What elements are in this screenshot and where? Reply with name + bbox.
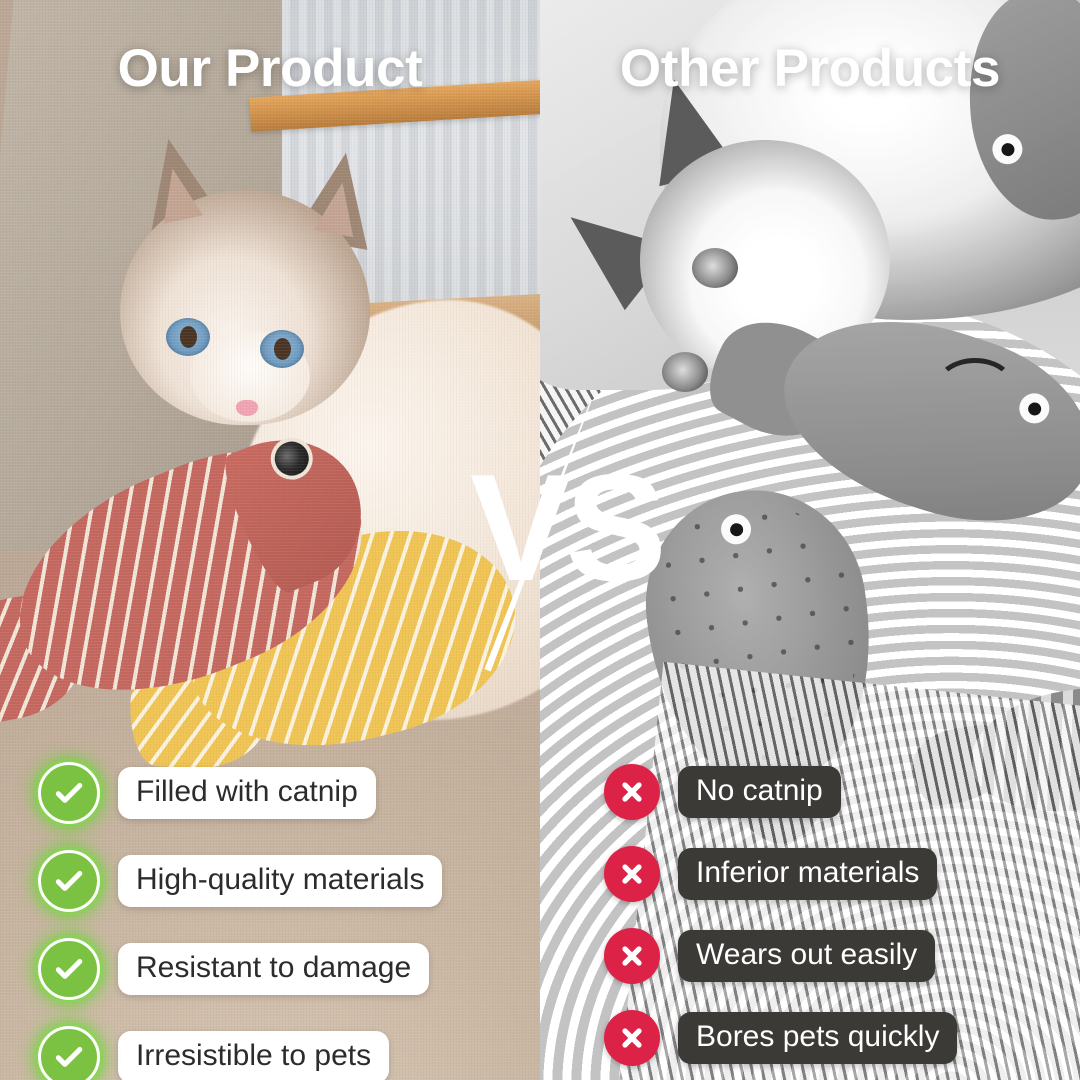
grey-cat-eye-upper	[692, 248, 738, 288]
list-item[interactable]: Resistant to damage	[38, 938, 442, 1000]
our-product-title: Our Product	[0, 38, 540, 99]
cross-icon	[604, 846, 660, 902]
pros-list: Filled with catnip High-quality material…	[38, 762, 442, 1080]
comparison-infographic: Our Product Other Products VS Filled wit…	[0, 0, 1080, 1080]
check-icon	[38, 1026, 100, 1080]
grey-cat-eye-lower	[662, 352, 708, 392]
con-label: Bores pets quickly	[678, 1012, 957, 1064]
cross-icon	[604, 928, 660, 984]
cross-icon	[604, 764, 660, 820]
grey-fish-smile	[935, 358, 1015, 416]
con-label: Inferior materials	[678, 848, 937, 900]
cons-list: No catnip Inferior materials Wears out e…	[604, 764, 957, 1066]
pro-label: High-quality materials	[118, 855, 442, 907]
list-item[interactable]: Irresistible to pets	[38, 1026, 442, 1080]
check-icon	[38, 762, 100, 824]
other-products-title: Other Products	[540, 38, 1080, 99]
list-item[interactable]: Inferior materials	[604, 846, 957, 902]
con-label: No catnip	[678, 766, 841, 818]
check-icon	[38, 850, 100, 912]
check-icon	[38, 938, 100, 1000]
list-item[interactable]: Bores pets quickly	[604, 1010, 957, 1066]
con-label: Wears out easily	[678, 930, 935, 982]
pro-label: Filled with catnip	[118, 767, 376, 819]
list-item[interactable]: Filled with catnip	[38, 762, 442, 824]
pro-label: Irresistible to pets	[118, 1031, 389, 1080]
list-item[interactable]: No catnip	[604, 764, 957, 820]
list-item[interactable]: Wears out easily	[604, 928, 957, 984]
pro-label: Resistant to damage	[118, 943, 429, 995]
list-item[interactable]: High-quality materials	[38, 850, 442, 912]
cross-icon	[604, 1010, 660, 1066]
